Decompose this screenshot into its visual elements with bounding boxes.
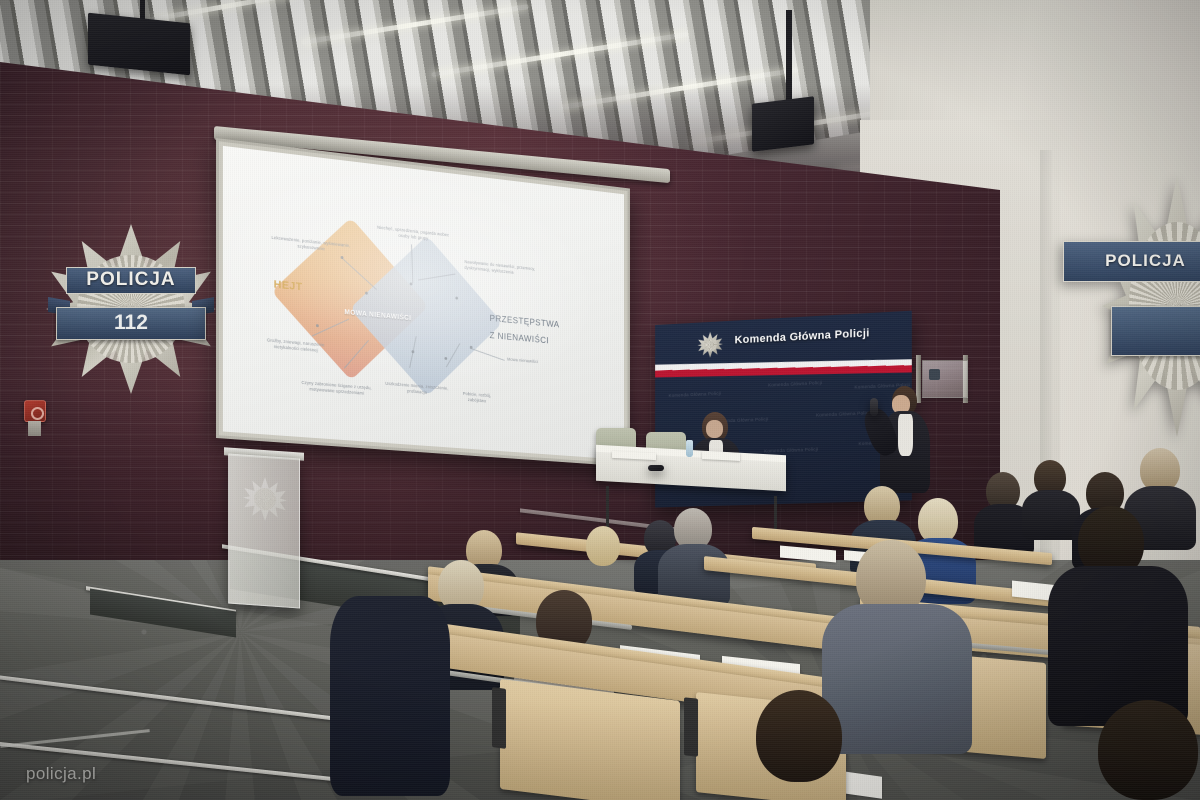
police-star-logo-icon [698,331,723,358]
backdrop-watermark: Komenda Główna Policji [669,391,722,398]
speaker-mount [786,10,792,106]
diagram-node [341,256,344,259]
fire-alarm-base [28,421,41,436]
diagram-node [444,357,447,360]
backdrop-stripe [655,359,912,377]
audience-head [1098,700,1198,800]
screen-surface: HEJT MOWA NIENAWIŚCI PRZESTĘPSTWA Z NIEN… [223,146,624,460]
audience-torso-grey [822,604,972,754]
audience-head [756,690,842,782]
diagram-annotation: Niechęć, uprzedzenia, pogarda wobec osob… [376,225,450,245]
emblem-ribbon [1111,306,1200,356]
audience-head [586,526,620,566]
diagram-node [365,292,368,295]
emblem-ribbon-112: 112 [56,307,206,339]
diagram-node [412,350,415,353]
table-microphone [648,465,664,471]
diagram-node [455,297,458,300]
wall-emblem-policja-right: POLICJA [1102,175,1200,437]
emblem-band-policja: POLICJA [1063,241,1200,283]
projection-screen: HEJT MOWA NIENAWIŚCI PRZESTĘPSTWA Z NIEN… [216,138,630,467]
diagram-annotation: Uszkodzenie mienia, zniszczenie, profana… [382,381,452,399]
wall-emblem-policja-left: POLICJA 112 [46,224,216,394]
diagram-label-przestepstwa: PRZESTĘPSTWA [490,313,560,329]
speaker-shirt [898,414,913,456]
wall-speaker-left [88,13,190,76]
audience-torso-police-jacket [330,596,450,796]
wall-mounted-panel [922,360,968,398]
audience-torso [1048,566,1188,726]
diagram-annotation: Mowa nienawiści [491,355,553,366]
wall-post-left [916,355,921,403]
backdrop-watermark: Komenda Główna Policji [816,410,871,417]
backdrop-title: Komenda Główna Policji [735,327,870,346]
conference-photo: POLICJA 112 POLICJA HEJT MOWA NIENAWIŚCI… [0,0,1200,800]
table-leg [606,486,609,530]
backdrop-watermark: Komenda Główna Policji [768,380,822,388]
diagram-node [470,346,473,349]
seat-bracket [492,687,506,749]
diagram-annotation: Pobicie, rozbój, zabójstwo [455,390,498,406]
fire-alarm-icon [24,400,46,422]
lectern-star-emblem-icon [243,476,287,523]
diagram-annotation: Czyny zabronione ścigane z urzędu, motyw… [297,380,376,399]
seat-bracket [684,697,698,756]
lectern [228,453,300,608]
backdrop-watermark: Komenda Główna Policji [764,447,818,454]
handheld-microphone [870,398,878,416]
diagram-node [316,324,319,327]
emblem-band-policja: POLICJA [66,267,195,294]
diagram-node [410,282,413,285]
slide-diagram: HEJT MOWA NIENAWIŚCI PRZESTĘPSTWA Z NIEN… [223,146,624,460]
diagram-annotation: Nawoływanie do nienawiści, przemocy, dys… [464,259,546,280]
diagram-leader-line [470,348,505,361]
water-bottle [686,440,693,457]
wall-speaker-right [752,96,814,152]
lecture-seat [500,679,680,800]
diagram-label-z-nienawisci: Z NIENAWIŚCI [490,330,549,345]
presenter-face [706,420,723,438]
policja-watermark: policja.pl [26,764,96,784]
